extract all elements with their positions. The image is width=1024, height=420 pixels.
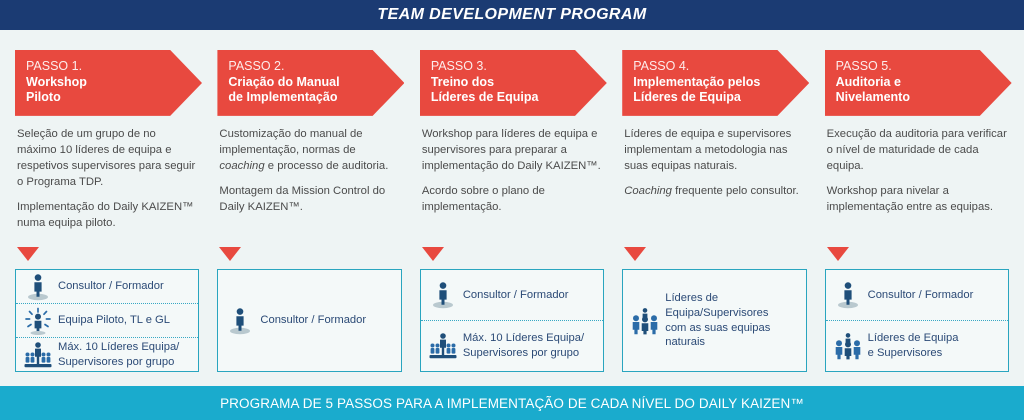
- step-paragraph-3-1: Workshop para líderes de equipa e superv…: [422, 126, 602, 174]
- step-paragraph-3-2: Acordo sobre o plano de implementação.: [422, 183, 602, 215]
- step-paragraph-1-1: Seleção de um grupo de no máximo 10 líde…: [17, 126, 197, 190]
- participant-row: Máx. 10 Líderes Equipa/ Supervisores por…: [16, 337, 198, 371]
- participant-row: Equipa Piloto, TL e GL: [16, 303, 198, 337]
- connector-arrow-container-4: [614, 247, 814, 269]
- step-paragraph-5-1: Execução da auditoria para verificar o n…: [827, 126, 1007, 174]
- page-title: TEAM DEVELOPMENT PROGRAM: [377, 6, 646, 24]
- step-paragraph-4-1: Líderes de equipa e supervisores impleme…: [624, 126, 804, 174]
- step-column-1: PASSO 1.Workshop PilotoSeleção de um gru…: [7, 30, 207, 382]
- step-title-2: Criação do Manual de Implementação: [228, 75, 393, 106]
- step-paragraph-2-1: Customização do manual de implementação,…: [219, 126, 399, 174]
- connector-arrow-container-3: [412, 247, 612, 269]
- down-triangle-icon: [827, 247, 849, 261]
- participant-row: Consultor / Formador: [826, 270, 1008, 320]
- step-paragraph-5-2: Workshop para nivelar a implementação en…: [827, 183, 1007, 215]
- step-arrow-2[interactable]: PASSO 2.Criação do Manual de Implementaç…: [217, 50, 404, 116]
- step-number-label-2: PASSO 2.: [228, 59, 393, 75]
- three-people-icon: [630, 306, 660, 336]
- step-number-label-4: PASSO 4.: [633, 59, 798, 75]
- participant-row: Consultor / Formador: [16, 270, 198, 303]
- participants-box-5: Consultor / FormadorLíderes de Equipa e …: [825, 269, 1009, 372]
- person-icon: [428, 280, 458, 310]
- participant-label: Consultor / Formador: [458, 288, 569, 303]
- step-description-3: Workshop para líderes de equipa e superv…: [422, 126, 602, 215]
- participant-label: Líderes de Equipa e Supervisores: [863, 331, 959, 361]
- person-icon: [225, 306, 255, 336]
- step-paragraph-1-2: Implementação do Daily KAIZEN™ numa equi…: [17, 199, 197, 231]
- footer-bar: PROGRAMA DE 5 PASSOS PARA A IMPLEMENTAÇÃ…: [0, 386, 1024, 420]
- participants-box-4: Líderes de Equipa/Supervisores com as su…: [622, 269, 806, 372]
- participants-box-1: Consultor / FormadorEquipa Piloto, TL e …: [15, 269, 199, 372]
- participant-label: Líderes de Equipa/Supervisores com as su…: [660, 291, 770, 351]
- participant-row: Máx. 10 Líderes Equipa/ Supervisores por…: [421, 320, 603, 371]
- group-people-icon: [23, 340, 53, 370]
- footer-caption: PROGRAMA DE 5 PASSOS PARA A IMPLEMENTAÇÃ…: [220, 396, 804, 411]
- participant-row: Líderes de Equipa/Supervisores com as su…: [623, 270, 805, 371]
- step-column-2: PASSO 2.Criação do Manual de Implementaç…: [209, 30, 409, 382]
- step-arrow-4[interactable]: PASSO 4.Implementação pelos Líderes de E…: [622, 50, 809, 116]
- participants-box-3: Consultor / FormadorMáx. 10 Líderes Equi…: [420, 269, 604, 372]
- step-description-2: Customização do manual de implementação,…: [219, 126, 399, 215]
- step-title-1: Workshop Piloto: [26, 75, 191, 106]
- step-description-4: Líderes de equipa e supervisores impleme…: [624, 126, 804, 199]
- participant-label: Consultor / Formador: [53, 279, 164, 294]
- step-number-label-3: PASSO 3.: [431, 59, 596, 75]
- down-triangle-icon: [219, 247, 241, 261]
- participant-row: Líderes de Equipa e Supervisores: [826, 320, 1008, 371]
- participant-label: Consultor / Formador: [255, 313, 366, 328]
- participants-box-2: Consultor / Formador: [217, 269, 401, 372]
- down-triangle-icon: [422, 247, 444, 261]
- columns-container: PASSO 1.Workshop PilotoSeleção de um gru…: [0, 30, 1024, 382]
- down-triangle-icon: [624, 247, 646, 261]
- three-people-icon: [833, 331, 863, 361]
- step-number-label-1: PASSO 1.: [26, 59, 191, 75]
- person-icon: [833, 280, 863, 310]
- participant-label: Máx. 10 Líderes Equipa/ Supervisores por…: [53, 340, 179, 370]
- infographic-root: TEAM DEVELOPMENT PROGRAM PASSO 1.Worksho…: [0, 0, 1024, 420]
- step-number-label-5: PASSO 5.: [836, 59, 1001, 75]
- step-title-4: Implementação pelos Líderes de Equipa: [633, 75, 798, 106]
- step-column-5: PASSO 5.Auditoria e NivelamentoExecução …: [817, 30, 1017, 382]
- step-title-3: Treino dos Líderes de Equipa: [431, 75, 596, 106]
- step-description-1: Seleção de um grupo de no máximo 10 líde…: [17, 126, 197, 231]
- step-arrow-1[interactable]: PASSO 1.Workshop Piloto: [15, 50, 202, 116]
- participant-label: Máx. 10 Líderes Equipa/ Supervisores por…: [458, 331, 584, 361]
- person-icon: [23, 272, 53, 302]
- italic-term: Coaching: [624, 185, 672, 197]
- step-arrow-5[interactable]: PASSO 5.Auditoria e Nivelamento: [825, 50, 1012, 116]
- participant-label: Equipa Piloto, TL e GL: [53, 313, 170, 328]
- connector-arrow-container-2: [209, 247, 409, 269]
- step-title-5: Auditoria e Nivelamento: [836, 75, 1001, 106]
- header-bar: TEAM DEVELOPMENT PROGRAM: [0, 0, 1024, 30]
- connector-arrow-container-1: [7, 247, 207, 269]
- down-triangle-icon: [17, 247, 39, 261]
- step-column-3: PASSO 3.Treino dos Líderes de EquipaWork…: [412, 30, 612, 382]
- participant-row: Consultor / Formador: [218, 270, 400, 371]
- participant-row: Consultor / Formador: [421, 270, 603, 320]
- step-paragraph-2-2: Montagem da Mission Control do Daily KAI…: [219, 183, 399, 215]
- connector-arrow-container-5: [817, 247, 1017, 269]
- step-column-4: PASSO 4.Implementação pelos Líderes de E…: [614, 30, 814, 382]
- step-arrow-3[interactable]: PASSO 3.Treino dos Líderes de Equipa: [420, 50, 607, 116]
- group-people-icon: [428, 331, 458, 361]
- italic-term: coaching: [219, 160, 264, 172]
- participant-label: Consultor / Formador: [863, 288, 974, 303]
- person-radiating-icon: [23, 306, 53, 336]
- step-description-5: Execução da auditoria para verificar o n…: [827, 126, 1007, 215]
- step-paragraph-4-2: Coaching frequente pelo consultor.: [624, 183, 804, 199]
